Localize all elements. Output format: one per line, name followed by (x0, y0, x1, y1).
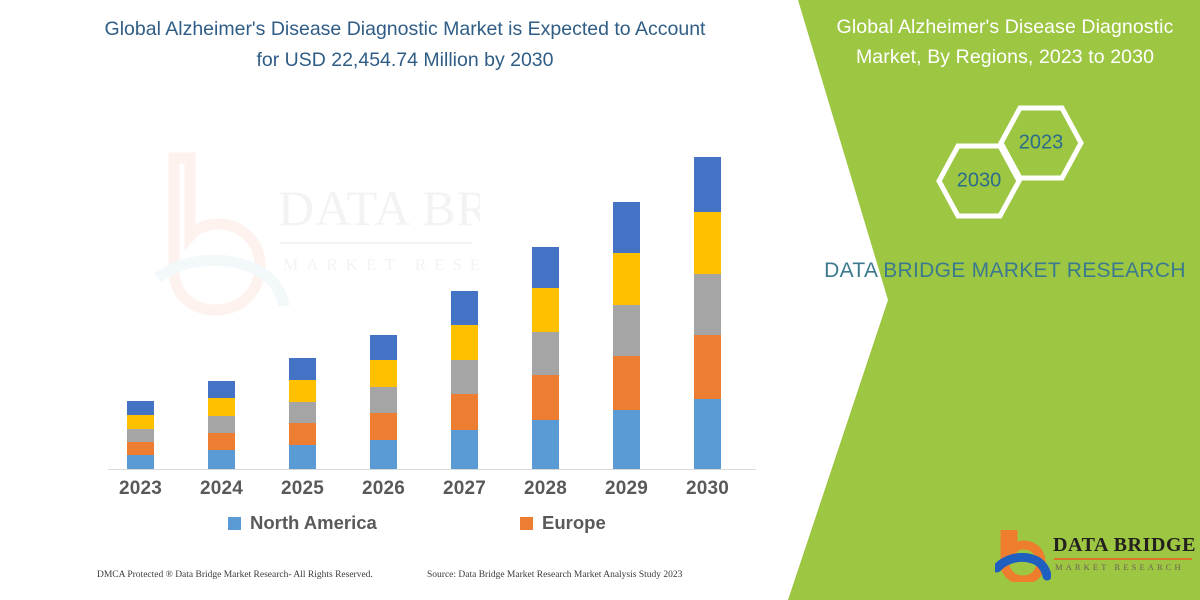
page-title: Global Alzheimer's Disease Diagnostic Ma… (95, 14, 715, 76)
bar-segment-2027-series-3 (451, 360, 478, 394)
infographic-canvas: Global Alzheimer's Disease Diagnostic Ma… (0, 0, 1200, 600)
dbmr-logo-title: DATA BRIDGE (1053, 534, 1196, 557)
bar-2024 (208, 381, 235, 469)
legend-item-north-america[interactable]: North America (228, 512, 377, 534)
bar-segment-2029-series-4 (613, 253, 640, 305)
bar-segment-2024-series-4 (208, 398, 235, 416)
hexagon-2023: 2023 (998, 105, 1084, 181)
bar-segment-2023-series-3 (127, 429, 154, 442)
bar-segment-2026-europe (370, 413, 397, 440)
panel-brand-text: DATA BRIDGE MARKET RESEARCH (815, 255, 1195, 286)
x-label-2024: 2024 (192, 478, 252, 500)
bar-segment-2023-north-america (127, 455, 154, 469)
legend-label: Europe (542, 512, 606, 534)
bar-2027 (451, 291, 478, 469)
bar-segment-2025-europe (289, 423, 316, 445)
bar-segment-2025-series-3 (289, 402, 316, 423)
x-label-2028: 2028 (516, 478, 576, 500)
green-side-panel: Global Alzheimer's Disease Diagnostic Ma… (760, 0, 1200, 600)
bar-segment-2026-north-america (370, 440, 397, 469)
dbmr-logo-subtitle: MARKET RESEARCH (1055, 562, 1196, 572)
bar-segment-2025-north-america (289, 445, 316, 469)
bar-segment-2027-europe (451, 394, 478, 430)
legend-label: North America (250, 512, 377, 534)
bar-segment-2023-series-5 (127, 401, 154, 415)
bar-2023 (127, 401, 154, 469)
bar-segment-2026-series-4 (370, 360, 397, 387)
bar-segment-2024-series-5 (208, 381, 235, 398)
panel-title: Global Alzheimer's Disease Diagnostic Ma… (820, 12, 1190, 72)
bar-segment-2029-series-3 (613, 305, 640, 356)
bar-segment-2024-series-3 (208, 416, 235, 433)
x-label-2027: 2027 (435, 478, 495, 500)
bar-segment-2023-series-4 (127, 415, 154, 429)
bar-segment-2024-north-america (208, 450, 235, 469)
bar-segment-2026-series-5 (370, 335, 397, 360)
bar-segment-2030-north-america (694, 399, 721, 469)
bar-segment-2029-north-america (613, 410, 640, 469)
bar-segment-2026-series-3 (370, 387, 397, 413)
bar-segment-2030-europe (694, 335, 721, 399)
bar-segment-2028-europe (532, 375, 559, 420)
dbmr-logo-text: DATA BRIDGE MARKET RESEARCH (1053, 534, 1196, 572)
legend-item-europe[interactable]: Europe (520, 512, 606, 534)
dbmr-logo-divider (1054, 558, 1192, 560)
x-label-2029: 2029 (597, 478, 657, 500)
bar-segment-2030-series-5 (694, 157, 721, 212)
legend-swatch-icon (520, 517, 533, 530)
bar-2029 (613, 202, 640, 469)
legend-swatch-icon (228, 517, 241, 530)
bar-segment-2027-series-4 (451, 325, 478, 360)
x-label-2025: 2025 (273, 478, 333, 500)
bar-segment-2029-series-5 (613, 202, 640, 253)
footer-copyright: DMCA Protected ® Data Bridge Market Rese… (97, 570, 373, 580)
bar-segment-2029-europe (613, 356, 640, 410)
bar-segment-2025-series-4 (289, 380, 316, 402)
dbmr-logo-mark-icon (995, 530, 1051, 582)
x-label-2026: 2026 (354, 478, 414, 500)
hexagon-pair: 2030 2023 (920, 105, 1120, 215)
bar-2028 (532, 247, 559, 469)
bar-segment-2030-series-3 (694, 274, 721, 335)
x-label-2023: 2023 (111, 478, 171, 500)
bar-segment-2024-europe (208, 433, 235, 450)
bar-2025 (289, 358, 316, 469)
x-label-2030: 2030 (678, 478, 738, 500)
bar-segment-2025-series-5 (289, 358, 316, 380)
bar-2026 (370, 335, 397, 469)
bar-chart-plot (100, 120, 760, 470)
bar-2030 (694, 157, 721, 469)
bar-segment-2023-europe (127, 442, 154, 455)
bar-segment-2027-north-america (451, 430, 478, 469)
footer: DMCA Protected ® Data Bridge Market Rese… (0, 566, 760, 592)
bar-segment-2028-north-america (532, 420, 559, 469)
x-axis-labels: 20232024202520262027202820292030 (100, 478, 760, 506)
bar-segment-2028-series-4 (532, 288, 559, 332)
footer-source: Source: Data Bridge Market Research Mark… (427, 570, 682, 580)
bar-segment-2030-series-4 (694, 212, 721, 274)
chart-baseline (108, 469, 756, 470)
bar-segment-2027-series-5 (451, 291, 478, 325)
dbmr-logo: DATA BRIDGE MARKET RESEARCH (995, 528, 1200, 586)
hexagon-2023-label: 2023 (998, 132, 1084, 155)
chart-legend: North AmericaEurope (100, 512, 760, 540)
bar-segment-2028-series-3 (532, 332, 559, 375)
bar-segment-2028-series-5 (532, 247, 559, 288)
